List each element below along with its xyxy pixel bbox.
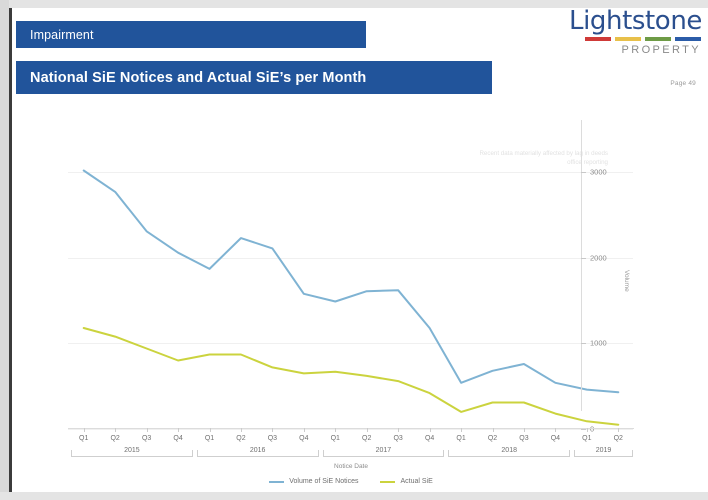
y-tick-label: 3000 [590,168,607,177]
x-tick [304,428,305,432]
series-line [84,171,619,393]
page-number: Page 49 [670,80,696,87]
x-axis-title: Notice Date [68,463,634,470]
y-tick [581,343,586,344]
x-tick [555,428,556,432]
year-label: 2016 [246,447,270,454]
x-tick [493,428,494,432]
x-tick [272,428,273,432]
y-axis-title: Volume [623,270,630,292]
quarter-label: Q3 [142,435,151,442]
quarter-label: Q4 [173,435,182,442]
quarter-label: Q2 [362,435,371,442]
x-tick [210,428,211,432]
quarter-label: Q1 [205,435,214,442]
year-group-bracket: 2017 [323,450,445,457]
section-label-text: Impairment [30,28,94,42]
quarter-label: Q1 [331,435,340,442]
y-tick-label: 1000 [590,339,607,348]
x-axis-line [68,428,634,429]
quarter-label: Q3 [268,435,277,442]
y-tick [581,172,586,173]
x-tick [147,428,148,432]
year-label: 2017 [372,447,396,454]
year-label: 2015 [120,447,144,454]
x-tick [524,428,525,432]
legend-swatch [269,481,284,483]
quarter-label: Q4 [299,435,308,442]
year-label: 2018 [497,447,521,454]
slide-left-rule [9,8,12,492]
year-group-bracket: 2015 [71,450,193,457]
legend-item[interactable]: Volume of SiE Notices [269,478,358,485]
quarter-label: Q4 [551,435,560,442]
x-tick [587,428,588,432]
quarter-label: Q2 [614,435,623,442]
x-tick [335,428,336,432]
page-title: National SiE Notices and Actual SiE’s pe… [30,70,366,86]
line-chart: Recent data materially affected by lag i… [16,120,694,490]
quarter-label: Q3 [519,435,528,442]
logo-subtitle: PROPERTY [544,44,704,56]
lightstone-logo: Lightstone PROPERTY [544,6,704,58]
x-tick [241,428,242,432]
slide-canvas: Impairment National SiE Notices and Actu… [0,0,708,500]
logo-color-bars [544,37,704,41]
logo-bar-red [585,37,611,41]
x-tick [618,428,619,432]
year-group-bracket: 2016 [197,450,319,457]
quarter-label: Q1 [582,435,591,442]
logo-wordmark: Lightstone [544,6,704,36]
x-tick [398,428,399,432]
gridline [68,429,633,430]
logo-bar-yellow [615,37,641,41]
y-tick [581,429,586,430]
quarter-label: Q3 [393,435,402,442]
plot-area: Recent data materially affected by lag i… [68,138,633,428]
quarter-label: Q1 [456,435,465,442]
quarter-label: Q2 [488,435,497,442]
legend-item[interactable]: Actual SiE [380,478,432,485]
quarter-label: Q1 [79,435,88,442]
chart-legend: Volume of SiE NoticesActual SiE [68,478,634,485]
legend-swatch [380,481,395,483]
x-tick [461,428,462,432]
quarter-label: Q2 [236,435,245,442]
slide-title-bar: National SiE Notices and Actual SiE’s pe… [16,61,492,94]
logo-bar-green [645,37,671,41]
x-tick [178,428,179,432]
y-axis-line [581,120,582,411]
quarter-label: Q2 [110,435,119,442]
slide-bottom-edge [0,492,708,500]
x-tick [430,428,431,432]
logo-bar-blue [675,37,701,41]
legend-label: Actual SiE [400,478,432,485]
x-tick [84,428,85,432]
slide-left-edge [0,0,9,500]
series-paths [68,138,634,429]
x-tick [115,428,116,432]
legend-label: Volume of SiE Notices [289,478,358,485]
x-tick [367,428,368,432]
year-group-bracket: 2019 [574,450,633,457]
year-label: 2019 [592,447,616,454]
series-line [84,328,619,425]
year-group-bracket: 2018 [448,450,570,457]
y-tick-label: 2000 [590,253,607,262]
y-tick [581,258,586,259]
y-tick-label: 0 [590,425,594,434]
quarter-label: Q4 [425,435,434,442]
section-label-bar: Impairment [16,21,366,48]
